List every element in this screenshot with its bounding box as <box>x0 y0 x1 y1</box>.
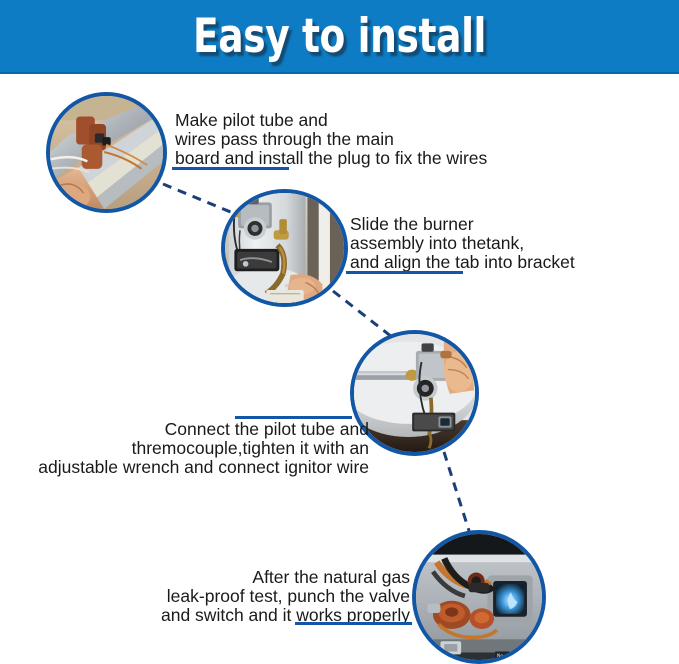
step-2-caption-line-3: and align the tab into bracket <box>350 253 575 272</box>
connector-step1-step2 <box>163 184 233 213</box>
step-1-caption-line-1: Make pilot tube and <box>175 111 487 130</box>
step-1-caption-line-3: board and install the plug to fix the wi… <box>175 149 487 168</box>
step-4-caption-line-2: leak-proof test, punch the valve <box>140 587 410 606</box>
step-3-caption-underline <box>235 416 352 419</box>
step-3-caption-line-3: adjustable wrench and connect ignitor wi… <box>6 458 369 477</box>
instruction-infographic: Easy to install <box>0 0 679 659</box>
step-4-caption: After the natural gas leak-proof test, p… <box>140 568 410 625</box>
page-title: Easy to install <box>68 4 611 70</box>
step-2-caption: Slide the burner assembly into thetank, … <box>350 215 575 272</box>
pilot-tube-thermocouple-wrench-photo <box>350 330 479 456</box>
gas-leak-test-burner-flame-photo: No <box>412 530 546 664</box>
step-2-caption-line-1: Slide the burner <box>350 215 575 234</box>
step-1-caption-line-2: wires pass through the main <box>175 130 487 149</box>
step-3-caption-line-2: thremocouple,tighten it with an <box>6 439 369 458</box>
step-2-caption-underline <box>346 271 463 274</box>
step-3-caption: Connect the pilot tube and thremocouple,… <box>6 420 369 477</box>
connector-step2-step3 <box>333 291 392 337</box>
svg-text:No: No <box>497 653 504 659</box>
step-1-caption: Make pilot tube and wires pass through t… <box>175 111 487 168</box>
step-3-caption-line-1: Connect the pilot tube and <box>6 420 369 439</box>
burner-assembly-into-tank-photo <box>221 189 348 307</box>
pilot-tube-and-wires-photo <box>46 92 167 213</box>
step-4-caption-underline <box>295 622 412 625</box>
step-1-caption-underline <box>172 167 289 170</box>
header-divider <box>0 72 679 74</box>
connector-step3-step4 <box>444 452 470 534</box>
step-4-caption-line-1: After the natural gas <box>140 568 410 587</box>
step-2-caption-line-2: assembly into thetank, <box>350 234 575 253</box>
